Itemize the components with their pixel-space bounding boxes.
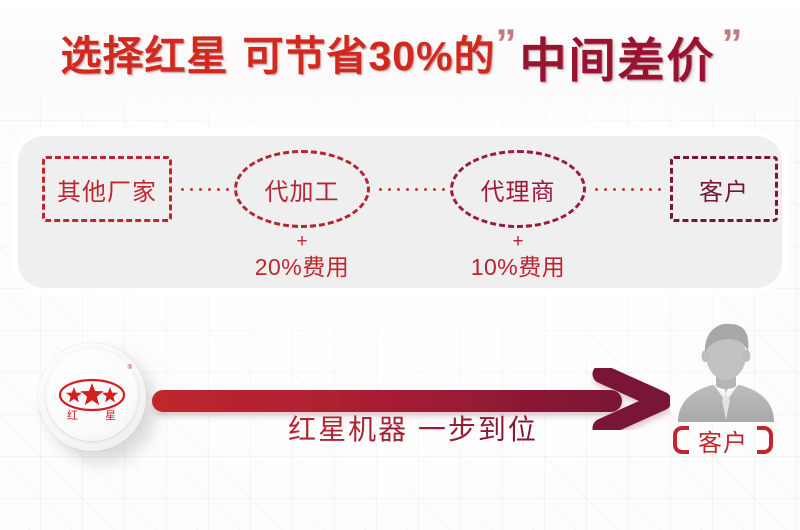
chain-connector-3 <box>592 188 666 191</box>
chain-diagram: 其他厂家 代加工 代理商 客户 + 20%费用 + 10%费用 <box>18 136 782 288</box>
brand-logo-badge: ® 红 星 <box>38 343 146 451</box>
chain-connector-1 <box>178 188 230 191</box>
middleman-chain-card: 其他厂家 代加工 代理商 客户 + 20%费用 + 10%费用 <box>18 136 782 288</box>
tagline: 红星机器 一步到位 <box>248 408 578 448</box>
chain-fee-2: + 10%费用 <box>450 232 586 279</box>
businessman-icon <box>672 322 780 422</box>
headline: 选择红星 可节省30%的 ” 中间差价 ” <box>0 22 800 90</box>
headline-emphasis: 中间差价 <box>514 22 722 91</box>
chain-node-agent: 代理商 <box>450 150 586 228</box>
chain-node-label: 代加工 <box>265 172 340 207</box>
chain-node-label: 其他厂家 <box>57 172 157 207</box>
headline-sub: 可节省30%的 <box>242 36 495 77</box>
registered-trademark-icon: ® <box>128 365 132 371</box>
brand-logo-disc: ® 红 星 <box>46 349 138 441</box>
fee-plus-sign: + <box>450 232 586 252</box>
customer-label: 客户 <box>648 423 798 457</box>
chain-node-label: 代理商 <box>481 172 556 207</box>
chain-node-label: 客户 <box>699 172 749 207</box>
quote-close-icon: ” <box>721 24 740 64</box>
customer-label-text: 客户 <box>698 423 748 458</box>
brand-char-2: 星 <box>105 407 117 423</box>
brand-char-1: 红 <box>67 407 79 423</box>
brand-logo-text: 红 星 <box>54 407 130 423</box>
chain-connector-2 <box>376 188 446 191</box>
headline-main: 选择红星 <box>60 36 228 77</box>
fee-amount: 20%费用 <box>234 255 370 279</box>
chain-fee-1: + 20%费用 <box>234 232 370 279</box>
bracket-left-icon <box>673 426 689 454</box>
chain-node-contract-manufacturing: 代加工 <box>234 150 370 228</box>
fee-plus-sign: + <box>234 232 370 252</box>
fee-amount: 10%费用 <box>450 255 586 279</box>
chain-node-other-factory: 其他厂家 <box>42 156 172 222</box>
bracket-right-icon <box>757 426 773 454</box>
chain-node-customer: 客户 <box>670 156 778 222</box>
quote-open-icon: ” <box>495 24 514 64</box>
